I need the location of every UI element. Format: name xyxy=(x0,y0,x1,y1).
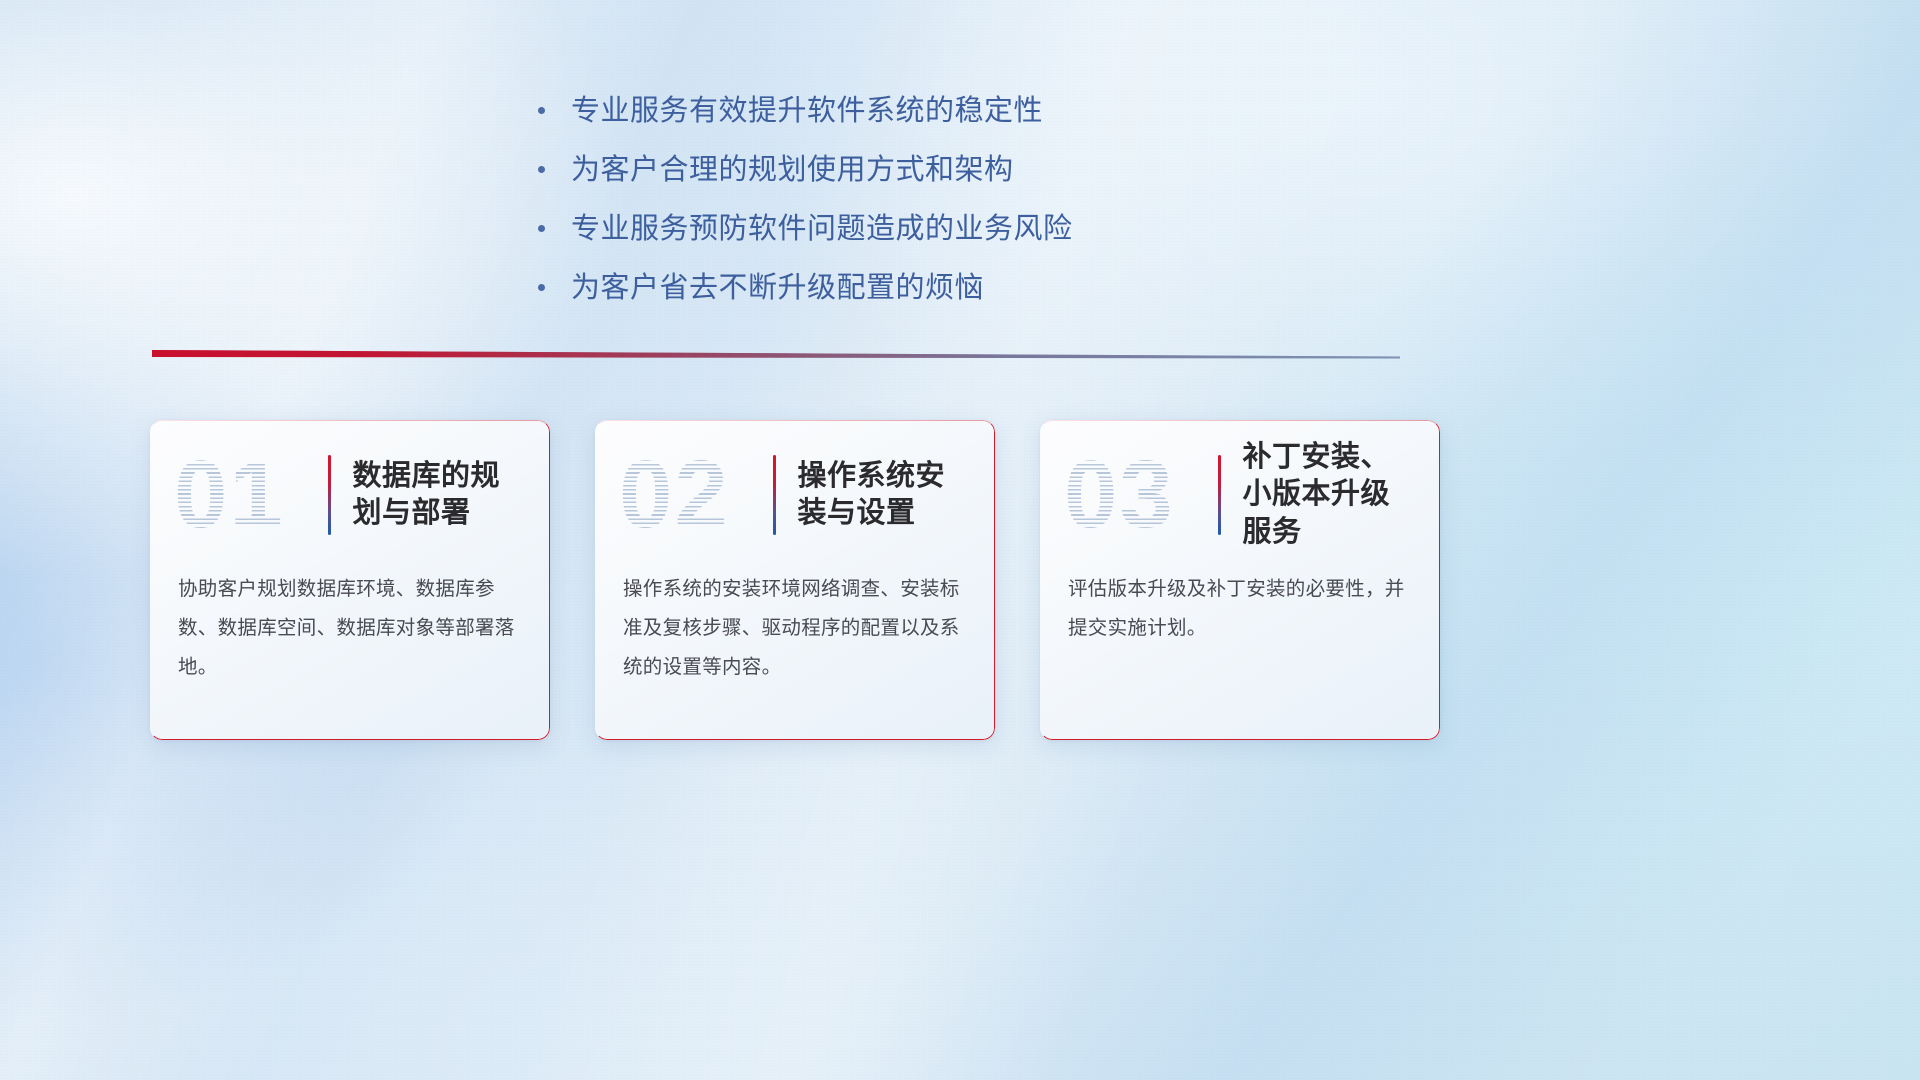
card-header: 02 操作系统安装与设置 xyxy=(595,420,995,570)
card-number-watermark: 02 xyxy=(619,447,769,543)
list-item: 专业服务预防软件问题造成的业务风险 xyxy=(520,208,1280,250)
card-number-watermark: 01 xyxy=(174,447,324,543)
list-item: 为客户合理的规划使用方式和架构 xyxy=(520,149,1280,191)
bullet-text: 专业服务有效提升软件系统的稳定性 xyxy=(571,90,1043,132)
card-title: 操作系统安装与设置 xyxy=(798,458,970,532)
bullet-text: 专业服务预防软件问题造成的业务风险 xyxy=(571,208,1073,250)
card-header: 03 补丁安装、小版本升级服务 xyxy=(1040,420,1440,570)
list-item: 为客户省去不断升级配置的烦恼 xyxy=(520,267,1280,309)
benefits-bullet-list: 专业服务有效提升软件系统的稳定性 为客户合理的规划使用方式和架构 专业服务预防软… xyxy=(520,90,1280,326)
service-card-list: 01 数据库的规划与部署 协助客户规划数据库环境、数据库参数、数据库空间、数据库… xyxy=(150,420,1770,740)
card-title: 补丁安装、小版本升级服务 xyxy=(1243,439,1415,550)
card-title-rule xyxy=(773,455,776,535)
bullet-dot-icon xyxy=(538,284,545,291)
card-description: 评估版本升级及补丁安装的必要性，并提交实施计划。 xyxy=(1040,570,1440,648)
card-header: 01 数据库的规划与部署 xyxy=(150,420,550,570)
bullet-dot-icon xyxy=(538,225,545,232)
card-description: 操作系统的安装环境网络调查、安装标准及复核步骤、驱动程序的配置以及系统的设置等内… xyxy=(595,570,995,687)
bullet-dot-icon xyxy=(538,107,545,114)
service-card[interactable]: 01 数据库的规划与部署 协助客户规划数据库环境、数据库参数、数据库空间、数据库… xyxy=(150,420,550,740)
gradient-divider-icon xyxy=(152,348,1400,364)
bullet-text: 为客户合理的规划使用方式和架构 xyxy=(571,149,1014,191)
card-number-watermark: 03 xyxy=(1064,447,1214,543)
card-title-rule xyxy=(328,455,331,535)
section-divider xyxy=(152,348,1400,364)
slide-canvas: 专业服务有效提升软件系统的稳定性 为客户合理的规划使用方式和架构 专业服务预防软… xyxy=(0,0,1920,1080)
card-title: 数据库的规划与部署 xyxy=(353,458,525,532)
card-title-rule xyxy=(1218,455,1221,535)
card-description: 协助客户规划数据库环境、数据库参数、数据库空间、数据库对象等部署落地。 xyxy=(150,570,550,687)
list-item: 专业服务有效提升软件系统的稳定性 xyxy=(520,90,1280,132)
service-card[interactable]: 02 操作系统安装与设置 操作系统的安装环境网络调查、安装标准及复核步骤、驱动程… xyxy=(595,420,995,740)
bullet-dot-icon xyxy=(538,166,545,173)
service-card[interactable]: 03 补丁安装、小版本升级服务 评估版本升级及补丁安装的必要性，并提交实施计划。 xyxy=(1040,420,1440,740)
bullet-text: 为客户省去不断升级配置的烦恼 xyxy=(571,267,984,309)
